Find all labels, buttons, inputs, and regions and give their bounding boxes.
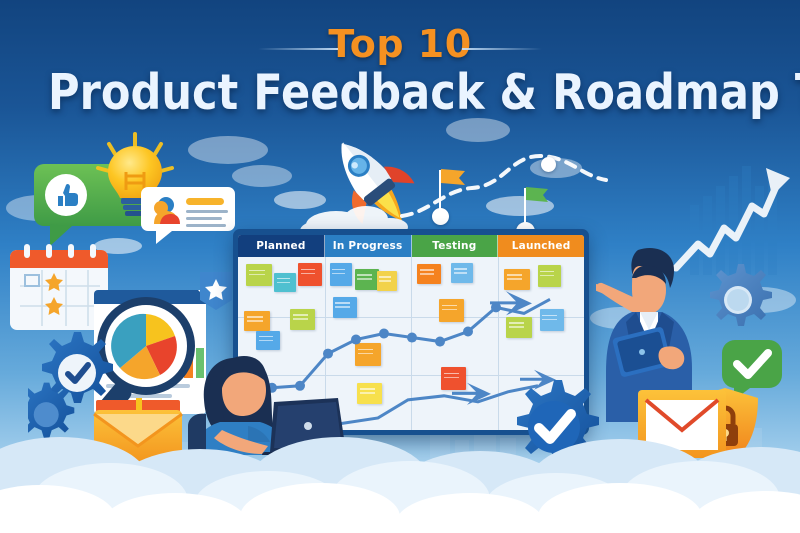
flag-green-icon bbox=[526, 186, 550, 203]
page-title: Product Feedback & Roadmap Tools bbox=[48, 64, 752, 121]
eyebrow-rule-left bbox=[258, 48, 338, 50]
page-eyebrow: Top 10 bbox=[0, 22, 800, 66]
review-title-bar bbox=[186, 198, 224, 205]
eyebrow-rule-right bbox=[462, 48, 542, 50]
gear-icon-right bbox=[700, 262, 776, 338]
user-review-card bbox=[140, 186, 238, 248]
milestone-marker-3 bbox=[541, 157, 556, 172]
star-badge-icon bbox=[198, 270, 234, 312]
flag-orange-icon bbox=[441, 168, 467, 186]
poster-canvas: Top 10 Product Feedback & Roadmap Tools bbox=[0, 0, 800, 533]
cloud-bank-foreground bbox=[0, 373, 800, 533]
